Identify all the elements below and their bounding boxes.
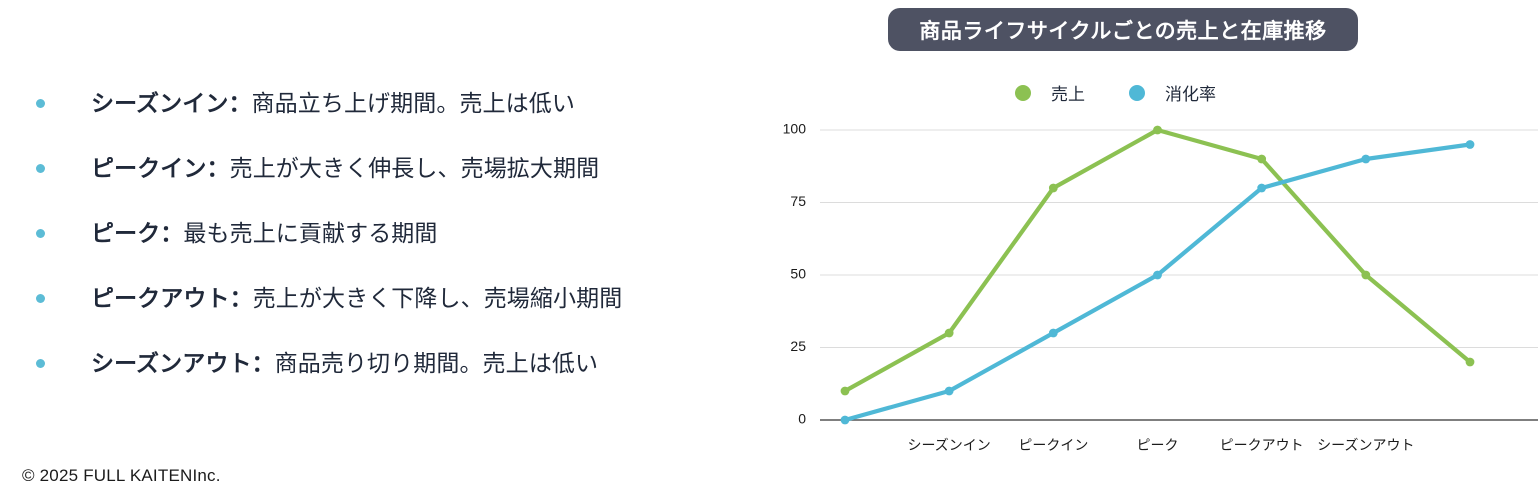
- list-item: ピークイン：売上が大きく伸長し、売場拡大期間: [24, 153, 754, 218]
- y-axis-tick-label: 0: [798, 411, 806, 427]
- x-axis-tick-label: ピーク: [1137, 437, 1179, 453]
- list-item-text: ピーク：最も売上に貢献する期間: [91, 218, 438, 248]
- line-chart-svg: 0255075100シーズンインピークインピークピークアウトシーズンアウト: [760, 0, 1538, 499]
- y-axis-tick-label: 50: [790, 266, 806, 282]
- list-item-term: シーズンアウト：: [91, 350, 275, 376]
- bullet-dot-icon: [36, 294, 45, 303]
- data-point-marker[interactable]: [945, 329, 954, 338]
- y-axis-tick-label: 25: [790, 338, 806, 354]
- list-item: シーズンイン：商品立ち上げ期間。売上は低い: [24, 88, 754, 153]
- list-item-term: ピーク：: [91, 220, 183, 246]
- list-item-term: シーズンイン：: [91, 90, 252, 116]
- list-item-description: 商品売り切り期間。売上は低い: [275, 350, 598, 376]
- list-item: ピークアウト：売上が大きく下降し、売場縮小期間: [24, 283, 754, 348]
- x-axis-tick-label: シーズンイン: [908, 437, 991, 453]
- list-item-text: シーズンアウト：商品売り切り期間。売上は低い: [91, 348, 598, 378]
- list-item-description: 売上が大きく伸長し、売場拡大期間: [230, 155, 600, 181]
- data-point-marker[interactable]: [841, 416, 850, 425]
- data-point-marker[interactable]: [1257, 155, 1266, 164]
- data-point-marker[interactable]: [1049, 329, 1058, 338]
- list-item-term: ピークアウト：: [91, 285, 253, 311]
- list-item-text: シーズンイン：商品立ち上げ期間。売上は低い: [91, 88, 575, 118]
- list-item-description: 最も売上に貢献する期間: [183, 220, 437, 246]
- x-axis-tick-label: シーズンアウト: [1317, 437, 1414, 453]
- lifecycle-bullet-list: シーズンイン：商品立ち上げ期間。売上は低いピークイン：売上が大きく伸長し、売場拡…: [24, 88, 754, 413]
- x-axis-tick-label: ピークアウト: [1220, 437, 1304, 453]
- data-point-marker[interactable]: [1466, 358, 1475, 367]
- data-point-marker[interactable]: [1153, 126, 1162, 135]
- series-line-売上: [845, 130, 1470, 391]
- list-item-text: ピークイン：売上が大きく伸長し、売場拡大期間: [91, 153, 599, 183]
- bullet-dot-icon: [36, 229, 45, 238]
- bullet-dot-icon: [36, 99, 45, 108]
- x-axis-tick-label: ピークイン: [1018, 437, 1088, 453]
- data-point-marker[interactable]: [1153, 271, 1162, 280]
- list-item: シーズンアウト：商品売り切り期間。売上は低い: [24, 348, 754, 413]
- plot-area: 0255075100シーズンインピークインピークピークアウトシーズンアウト: [760, 0, 1538, 499]
- y-axis-tick-label: 100: [783, 121, 807, 137]
- bullet-panel: シーズンイン：商品立ち上げ期間。売上は低いピークイン：売上が大きく伸長し、売場拡…: [0, 0, 760, 499]
- data-point-marker[interactable]: [1361, 155, 1370, 164]
- data-point-marker[interactable]: [945, 387, 954, 396]
- data-point-marker[interactable]: [841, 387, 850, 396]
- data-point-marker[interactable]: [1361, 271, 1370, 280]
- chart-panel: 商品ライフサイクルごとの売上と在庫推移 売上消化率 0255075100シーズン…: [760, 0, 1538, 499]
- list-item-term: ピークイン：: [91, 155, 230, 181]
- data-point-marker[interactable]: [1049, 184, 1058, 193]
- list-item-text: ピークアウト：売上が大きく下降し、売場縮小期間: [91, 283, 622, 313]
- list-item-description: 売上が大きく下降し、売場縮小期間: [253, 285, 623, 311]
- data-point-marker[interactable]: [1466, 140, 1475, 149]
- data-point-marker[interactable]: [1257, 184, 1266, 193]
- bullet-dot-icon: [36, 164, 45, 173]
- list-item: ピーク：最も売上に貢献する期間: [24, 218, 754, 283]
- list-item-description: 商品立ち上げ期間。売上は低い: [252, 90, 575, 116]
- y-axis-tick-label: 75: [790, 193, 806, 209]
- footer-copyright: © 2025 FULL KAITENInc.: [22, 466, 221, 486]
- bullet-dot-icon: [36, 359, 45, 368]
